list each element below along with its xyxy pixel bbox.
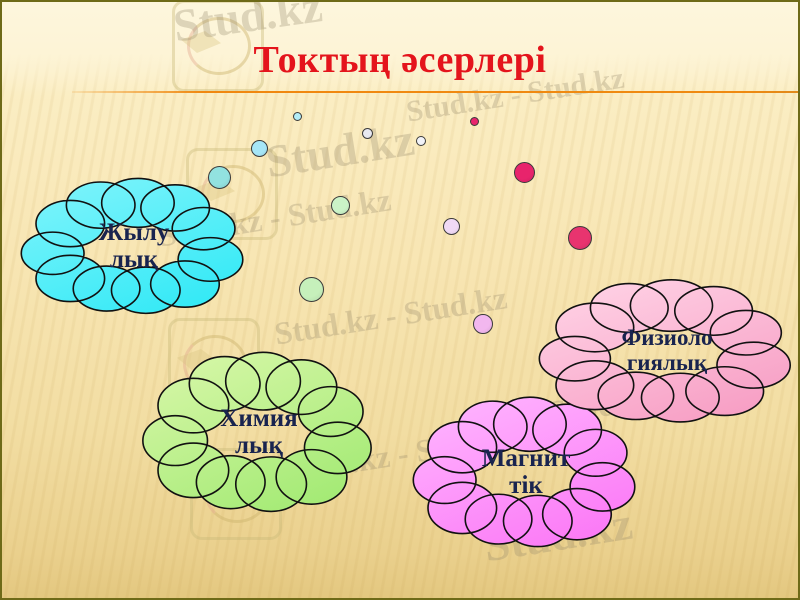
title-divider-rule — [72, 91, 800, 93]
bubble-small-cyan-1 — [293, 112, 302, 121]
page-title: Токтың әсерлері — [0, 38, 800, 82]
bubble-crimson-1 — [514, 162, 535, 183]
cloud-shape — [428, 410, 624, 534]
bubble-green-2 — [299, 277, 324, 302]
bubble-green-1 — [331, 196, 350, 215]
bubble-violet-2 — [473, 314, 493, 334]
cloud-himiyalyk[interactable]: Химиялық — [158, 366, 360, 498]
cloud-magnittik[interactable]: Магниттік — [428, 410, 624, 534]
bubble-cyan-2 — [208, 166, 231, 189]
cloud-zhylulyk[interactable]: Жылулық — [36, 190, 232, 302]
bubble-small-white-2 — [416, 136, 426, 146]
bubble-small-white-1 — [362, 128, 373, 139]
bubble-violet-1 — [443, 218, 460, 235]
bubble-crimson-2 — [568, 226, 592, 250]
cloud-shape — [556, 292, 778, 410]
cloud-shape — [36, 190, 232, 302]
cloud-fiziologiyalyk[interactable]: Физиологиялық — [556, 292, 778, 410]
bubble-cyan-1 — [251, 140, 268, 157]
presentation-slide: Stud.kzStud.kzStud.kz - Stud.kzStud.kz -… — [0, 0, 800, 600]
bubble-small-crimson — [470, 117, 479, 126]
cloud-shape — [158, 366, 360, 498]
